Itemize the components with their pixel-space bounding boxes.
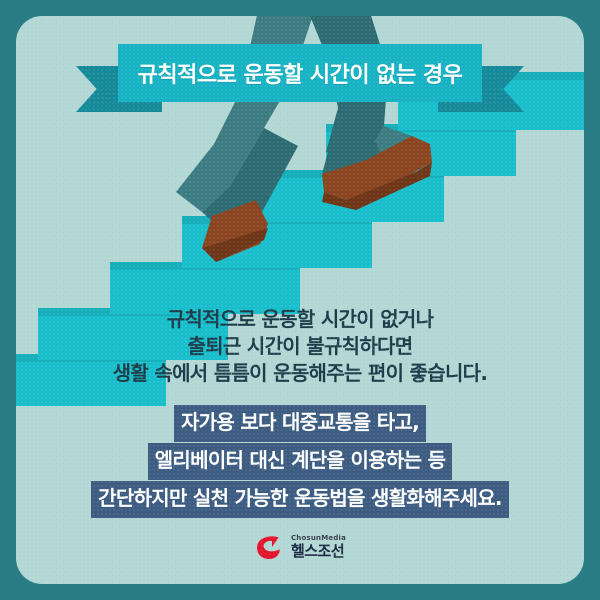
body-paragraph: 규칙적으로 운동할 시간이 없거나 출퇴근 시간이 불규칙하다면 생활 속에서 … (16, 306, 584, 387)
card-inner-panel: 규칙적으로 운동할 시간이 없는 경우 규칙적으로 운동할 시간이 없거나 출퇴… (16, 16, 584, 584)
publisher-logo: ChosunMedia 헬스조선 (16, 532, 584, 562)
body-line: 출퇴근 시간이 불규칙하다면 (16, 333, 584, 360)
highlight-line: 간단하지만 실천 가능한 운동법을 생활화해주세요. (16, 481, 584, 518)
highlight-line-text: 자가용 보다 대중교통을 타고, (174, 405, 426, 442)
banner-title-text: 규칙적으로 운동할 시간이 없는 경우 (138, 57, 463, 89)
body-line: 생활 속에서 틈틈이 운동해주는 편이 좋습니다. (16, 360, 584, 387)
health-info-card: 규칙적으로 운동할 시간이 없는 경우 규칙적으로 운동할 시간이 없거나 출퇴… (0, 0, 600, 600)
highlight-line: 엘리베이터 대신 계단을 이용하는 등 (16, 443, 584, 480)
highlight-line: 자가용 보다 대중교통을 타고, (16, 405, 584, 442)
logo-sub-text: ChosunMedia (291, 535, 346, 542)
highlight-paragraph: 자가용 보다 대중교통을 타고, 엘리베이터 대신 계단을 이용하는 등 간단하… (16, 404, 584, 519)
body-line: 규칙적으로 운동할 시간이 없거나 (16, 306, 584, 333)
logo-main-text: 헬스조선 (291, 544, 346, 559)
chosunmedia-c-mark-icon (254, 532, 284, 562)
title-banner: 규칙적으로 운동할 시간이 없는 경우 (16, 44, 584, 116)
highlight-line-text: 엘리베이터 대신 계단을 이용하는 등 (148, 443, 453, 480)
banner-body: 규칙적으로 운동할 시간이 없는 경우 (118, 44, 482, 102)
highlight-line-text: 간단하지만 실천 가능한 운동법을 생활화해주세요. (91, 481, 509, 518)
logo-wordmark: ChosunMedia 헬스조선 (291, 535, 346, 559)
